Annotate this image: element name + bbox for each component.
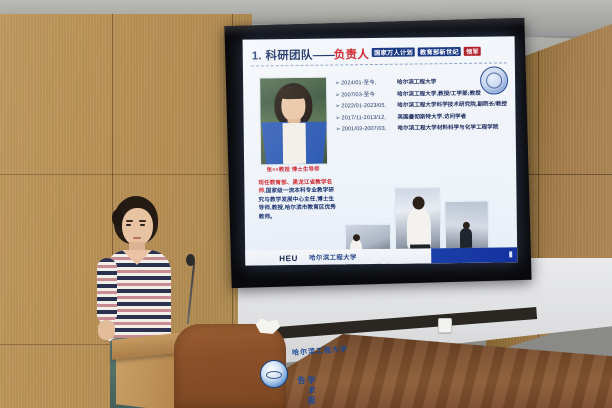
presenter-brow-left xyxy=(126,220,133,222)
portrait-hair-front xyxy=(278,86,308,99)
bullet-row: ➢ 2022/01-2023/05, 哈尔滨工程大学科学技术研究院,副院长/教授 xyxy=(335,102,489,111)
slide-title-tag-1: 国家万人计划 xyxy=(372,48,415,58)
resume-bullet-list: ➢ 2024/01-至今, 哈尔滨工程大学 ➢ 2007/03-至今 哈尔滨工程… xyxy=(335,79,490,139)
podium-front-panel: 哈尔滨工程大学 学术报告 xyxy=(174,324,286,408)
slide-title-dash: —— xyxy=(313,50,334,62)
bullet-desc: 哈尔滨工程大学,教授/工学部;教授 xyxy=(397,90,489,98)
slide-title-number: 1. xyxy=(252,50,262,62)
bullet-row: ➢ 2024/01-至今, 哈尔滨工程大学 xyxy=(335,79,489,88)
slide-footer: HEU 哈尔滨工程大学 xyxy=(245,247,517,265)
slide-title-tag-2: 教育部新世纪 xyxy=(418,47,461,57)
podium-emblem-icon xyxy=(260,360,288,388)
bullet-desc: 哈尔滨工程大学 xyxy=(397,79,489,87)
bullet-row: ➢ 2001/03-2007/03, 哈尔滨工程大学材料科学与化学工程学院 xyxy=(336,125,490,134)
wall-outlet xyxy=(438,318,452,333)
presenter-eye-left xyxy=(126,224,131,226)
presenter-eye-right xyxy=(140,224,145,226)
heu-logo-cn: 哈尔滨工程大学 xyxy=(309,252,357,262)
bio-part: 现任教育部、 xyxy=(258,180,292,186)
photo-figure-head xyxy=(413,196,425,209)
photo-figure xyxy=(407,208,431,248)
wall-seam xyxy=(0,174,252,175)
bullet-date: 2024/01-至今, xyxy=(341,80,397,88)
heu-logo-text: HEU xyxy=(279,253,298,262)
presenter-brow-right xyxy=(139,220,146,222)
lecture-hall-photo: 1. 科研团队——负责人国家万人计划教育部新世纪领军 张××教授 博士生导师 ➢ xyxy=(0,0,612,408)
podium-text-vertical: 学术报告 xyxy=(296,376,316,408)
portrait-shirt xyxy=(283,123,306,164)
bio-part: ,国家级一 xyxy=(264,188,289,194)
footer-blue-bar xyxy=(431,247,517,263)
bullet-date: 2022/01-2023/05, xyxy=(341,103,397,111)
portrait-caption: 张××教授 博士生导师 xyxy=(257,165,329,174)
slide-title-main: 科研团队 xyxy=(265,50,312,63)
presenter-face xyxy=(122,208,153,246)
photo-figure-head xyxy=(463,222,470,229)
bullet-date: 2007/03-至今 xyxy=(341,91,397,99)
bullet-date: 2001/03-2007/03, xyxy=(342,126,398,134)
slide-title-tag-3: 领军 xyxy=(464,47,481,56)
bullet-desc: 哈尔滨工程大学材料科学与化学工程学院 xyxy=(398,125,499,133)
bio-paragraph: 现任教育部、黑龙江省教学名师,国家级一流本科专业教学研究与教学发展中心主任,博士… xyxy=(258,178,337,221)
photo-figure-head xyxy=(353,234,360,241)
bullet-row: ➢ 2007/03-至今 哈尔滨工程大学,教授/工学部;教授 xyxy=(335,90,489,99)
leader-portrait-photo xyxy=(259,77,328,166)
slide-title: 1. 科研团队——负责人国家万人计划教育部新世纪领军 xyxy=(252,45,481,64)
podium: 哈尔滨工程大学 学术报告 xyxy=(112,318,302,408)
bio-part: 黑龙江 xyxy=(292,180,309,186)
projection-screen: 1. 科研团队——负责人国家万人计划教育部新世纪领军 张××教授 博士生导师 ➢ xyxy=(224,18,531,288)
slide-title-highlight: 负责人 xyxy=(334,49,370,61)
bullet-desc: 英国曼彻斯特大学,访问学者 xyxy=(397,113,489,121)
bullet-desc: 哈尔滨工程大学科学技术研究院,副院长/教授 xyxy=(397,102,507,110)
bullet-row: ➢ 2017/11-2013/12, 英国曼彻斯特大学,访问学者 xyxy=(336,113,490,122)
bullet-date: 2017/11-2013/12, xyxy=(342,115,398,123)
bio-part: 学发展中心主任,博士 xyxy=(276,196,329,203)
presentation-slide: 1. 科研团队——负责人国家万人计划教育部新世纪领军 张××教授 博士生导师 ➢ xyxy=(243,36,518,265)
presenter-arm xyxy=(97,258,117,324)
